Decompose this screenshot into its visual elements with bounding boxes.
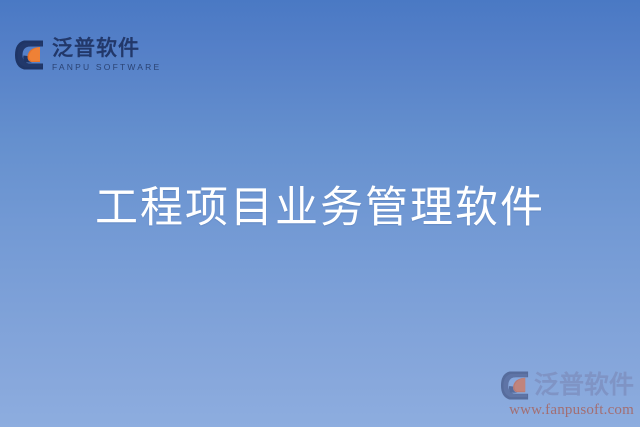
watermark-url: www.fanpusoft.com xyxy=(500,402,634,419)
watermark-name-cn: 泛普软件 xyxy=(534,373,634,398)
brand-logo: 泛普软件 FANPU SOFTWARE xyxy=(14,38,161,72)
watermark: 泛普软件 www.fanpusoft.com xyxy=(500,370,634,419)
page-title: 工程项目业务管理软件 xyxy=(0,185,640,232)
brand-name-cn: 泛普软件 xyxy=(52,38,161,59)
brand-text-block: 泛普软件 FANPU SOFTWARE xyxy=(52,38,161,72)
watermark-logo-row: 泛普软件 xyxy=(500,370,634,401)
fanpu-hexagon-logo-icon xyxy=(14,39,46,71)
brand-name-en: FANPU SOFTWARE xyxy=(52,63,161,72)
fanpu-hexagon-logo-icon xyxy=(500,370,531,401)
slide-canvas: 泛普软件 FANPU SOFTWARE 工程项目业务管理软件 泛普软件 www.… xyxy=(0,0,640,427)
